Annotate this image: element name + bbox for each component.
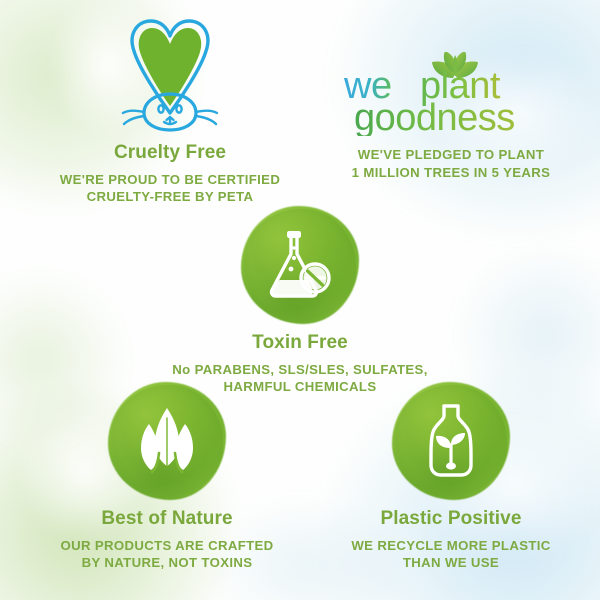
badge-subtitle: WE'VE PLEDGED TO PLANT 1 MILLION TREES I… bbox=[312, 146, 590, 181]
best-of-nature-icon-wrap bbox=[22, 382, 312, 500]
peta-bunny-heart-icon bbox=[114, 14, 226, 134]
badge-best-of-nature: Best of Nature OUR PRODUCTS ARE CRAFTED … bbox=[22, 382, 312, 572]
badge-title: Toxin Free bbox=[160, 333, 440, 354]
bottle-sprout-icon bbox=[415, 403, 487, 479]
badge-subtitle-line1: No PARABENS, SLS/SLES, SULFATES, bbox=[160, 361, 440, 379]
badge-subtitle-line2: CRUELTY-FREE BY PETA bbox=[25, 188, 315, 206]
watercolor-badge-circle bbox=[241, 206, 359, 324]
badge-subtitle: OUR PRODUCTS ARE CRAFTED BY NATURE, NOT … bbox=[22, 537, 312, 572]
badge-subtitle-line2: 1 MILLION TREES IN 5 YEARS bbox=[312, 164, 590, 182]
logo-word-goodness: goodness bbox=[354, 97, 515, 136]
badge-subtitle-line1: WE RECYCLE MORE PLASTIC bbox=[312, 537, 590, 555]
we-plant-goodness-wordmark: we plant goodness bbox=[336, 52, 566, 136]
badge-subtitle-line2: BY NATURE, NOT TOXINS bbox=[22, 554, 312, 572]
infographic-canvas: Cruelty Free WE'RE PROUD TO BE CERTIFIED… bbox=[0, 0, 600, 600]
flask-no-entry-icon bbox=[263, 228, 337, 302]
badge-subtitle: WE RECYCLE MORE PLASTIC THAN WE USE bbox=[312, 537, 590, 572]
badge-toxin-free: Toxin Free No PARABENS, SLS/SLES, SULFAT… bbox=[160, 206, 440, 396]
we-plant-goodness-logo: we plant goodness bbox=[312, 52, 590, 134]
toxin-free-icon-wrap bbox=[160, 206, 440, 324]
badge-we-plant-goodness: we plant goodness WE'VE PLEDGED TO PLANT… bbox=[312, 52, 590, 181]
badge-title: Plastic Positive bbox=[312, 509, 590, 530]
badge-title: Best of Nature bbox=[22, 509, 312, 530]
badge-subtitle-line2: THAN WE USE bbox=[312, 554, 590, 572]
badge-plastic-positive: Plastic Positive WE RECYCLE MORE PLASTIC… bbox=[312, 382, 590, 572]
badge-subtitle-line1: OUR PRODUCTS ARE CRAFTED bbox=[22, 537, 312, 555]
badge-title: Cruelty Free bbox=[25, 143, 315, 164]
plastic-positive-icon-wrap bbox=[312, 382, 590, 500]
watercolor-badge-circle bbox=[392, 382, 510, 500]
watercolor-badge-circle bbox=[108, 382, 226, 500]
badge-subtitle-line1: WE'VE PLEDGED TO PLANT bbox=[312, 146, 590, 164]
badge-subtitle-line1: WE'RE PROUD TO BE CERTIFIED bbox=[25, 171, 315, 189]
badge-cruelty-free: Cruelty Free WE'RE PROUD TO BE CERTIFIED… bbox=[25, 14, 315, 206]
badge-subtitle: WE'RE PROUD TO BE CERTIFIED CRUELTY-FREE… bbox=[25, 171, 315, 206]
cruelty-free-icon-wrap bbox=[25, 14, 315, 134]
three-leaves-icon bbox=[130, 404, 204, 478]
